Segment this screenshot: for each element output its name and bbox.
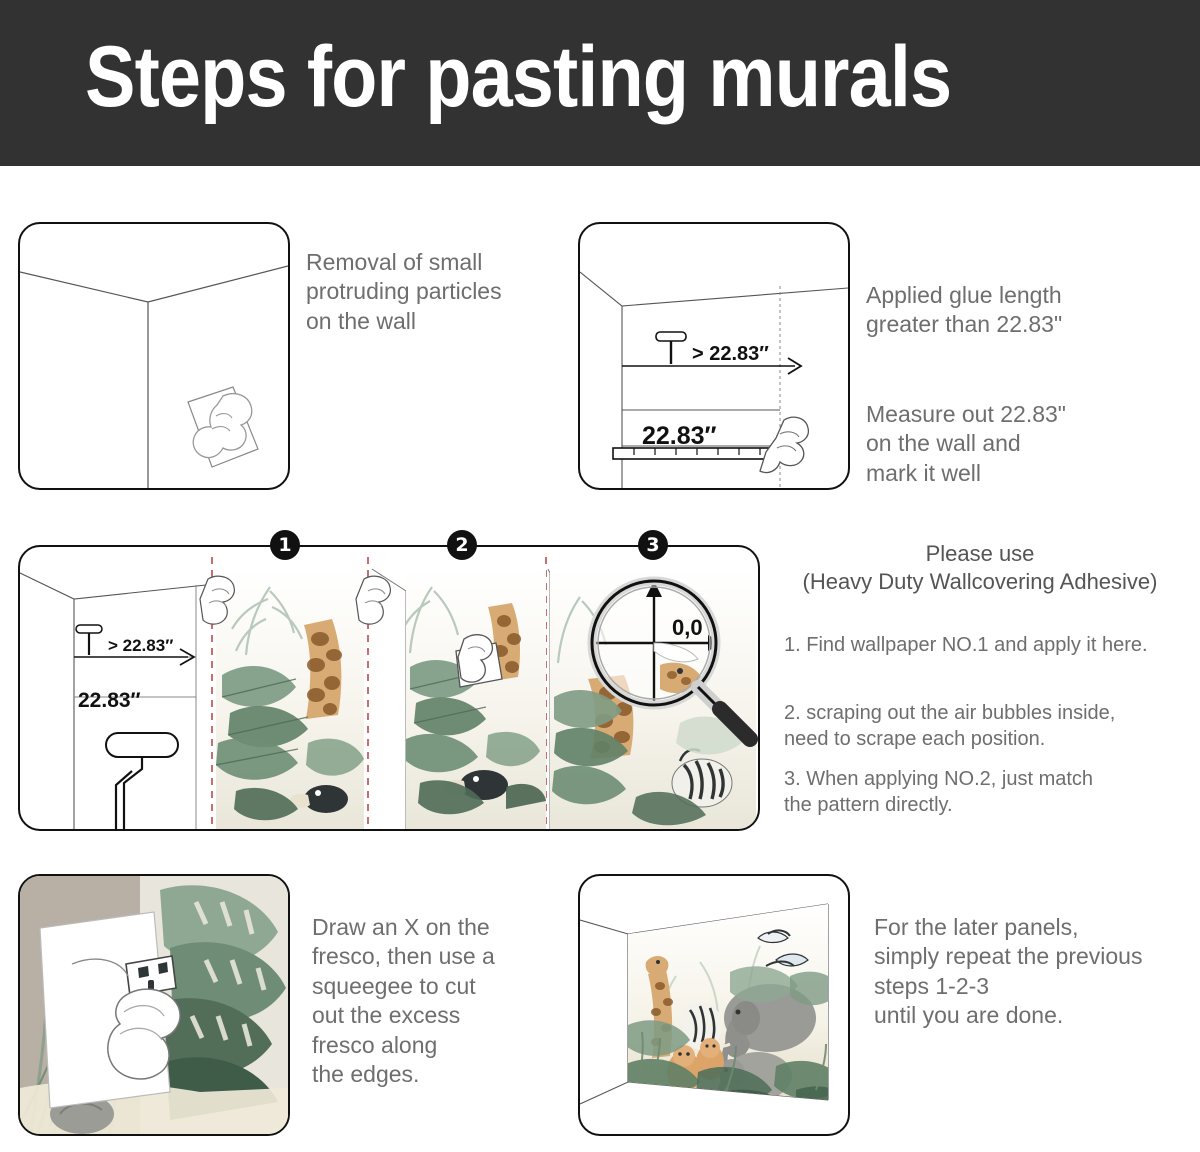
label-tape-length: 22.83″: [642, 422, 717, 450]
label-middle-tape: 22.83″: [78, 689, 141, 712]
panel-step1-wall-prep: [18, 222, 290, 490]
instruction-item-2: 2. scraping out the air bubbles inside, …: [784, 700, 1194, 752]
step-badge-3: 3: [638, 530, 668, 560]
caption-step5: For the later panels, simply repeat the …: [874, 913, 1194, 1031]
label-origin: 0,0: [672, 615, 703, 640]
apply-steps-illustration: > 22.83″ 22.83″: [20, 547, 758, 829]
trim-edges-illustration: [20, 876, 288, 1134]
caption-step2-measure: Measure out 22.83" on the wall and mark …: [866, 400, 1166, 488]
page-title: Steps for pasting murals: [85, 34, 951, 120]
step-badge-2: 2: [447, 530, 477, 560]
instruction-item-3: 3. When applying NO.2, just match the pa…: [784, 766, 1194, 818]
caption-step2-glue: Applied glue length greater than 22.83": [866, 281, 1166, 340]
panel-step5-finished-wall: [578, 874, 850, 1136]
step-badge-1: 1: [270, 530, 300, 560]
caption-step4: Draw an X on the fresco, then use a sque…: [312, 913, 552, 1090]
label-roller-length: > 22.83″: [692, 343, 769, 365]
panel-step4-trim-edges: [18, 874, 290, 1136]
header-bar: Steps for pasting murals: [0, 0, 1200, 166]
label-middle-roller: > 22.83″: [108, 636, 173, 655]
panel-middle-apply-steps: > 22.83″ 22.83″: [18, 545, 760, 831]
panel-step2-glue-measure: > 22.83″ 22.83″: [578, 222, 850, 490]
caption-step1: Removal of small protruding particles on…: [306, 248, 556, 336]
glue-measure-illustration: > 22.83″ 22.83″: [580, 224, 848, 488]
instruction-item-1: 1. Find wallpaper NO.1 and apply it here…: [784, 632, 1194, 658]
wall-corner-illustration: [20, 224, 288, 488]
finished-mural-illustration: [580, 876, 848, 1134]
instructions-heading: Please use (Heavy Duty Wallcovering Adhe…: [770, 540, 1190, 596]
